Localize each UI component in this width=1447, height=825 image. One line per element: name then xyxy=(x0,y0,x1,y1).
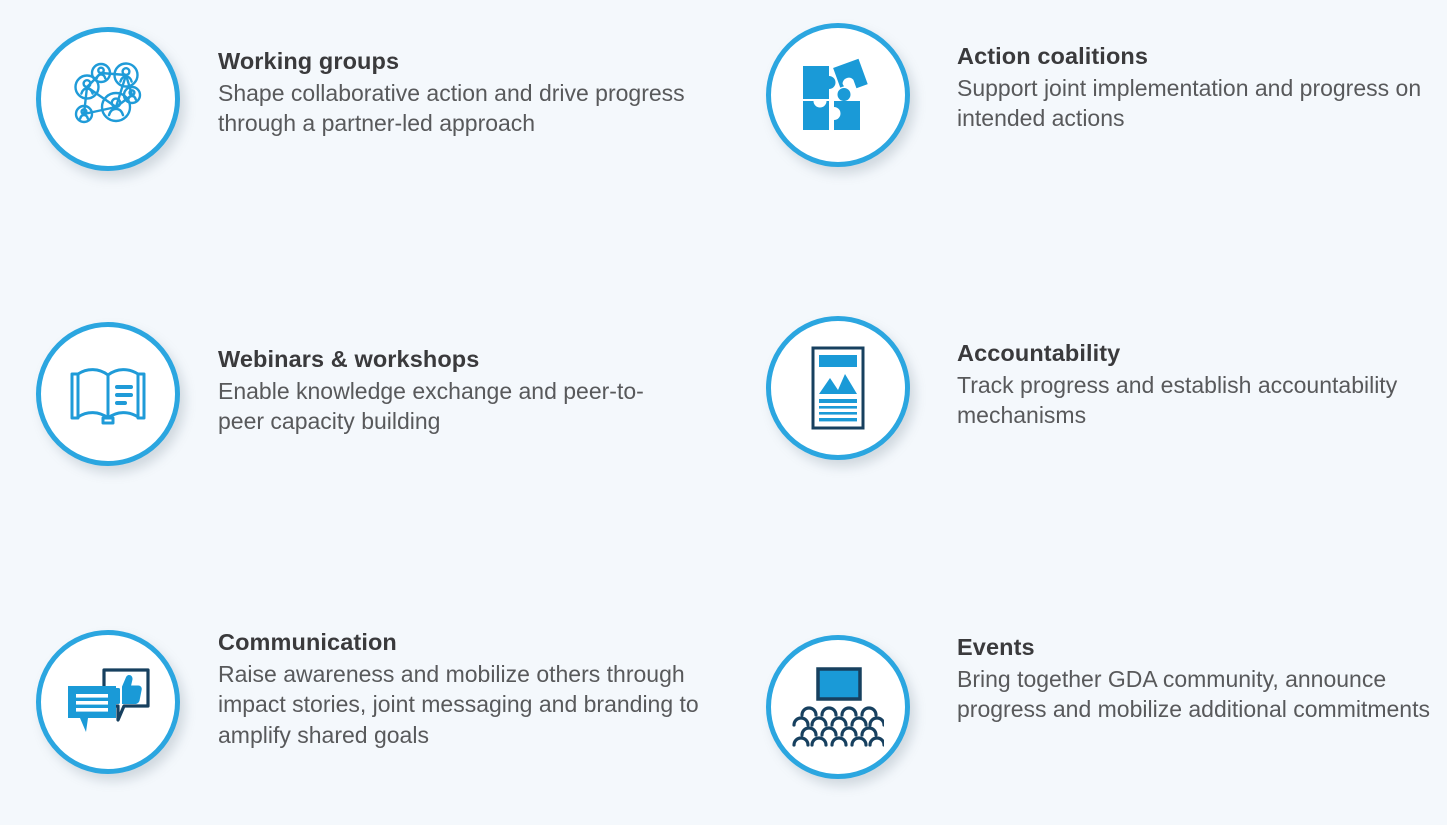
item-description: Raise awareness and mobilize others thro… xyxy=(218,659,718,751)
icon-badge-communication xyxy=(36,630,180,774)
copy-communication: Communication Raise awareness and mobili… xyxy=(218,626,718,750)
copy-events: Events Bring together GDA community, ann… xyxy=(957,631,1437,725)
icon-badge-working-groups xyxy=(36,27,180,171)
item-communication: Communication Raise awareness and mobili… xyxy=(36,630,718,774)
item-webinars-workshops: Webinars & workshops Enable knowledge ex… xyxy=(36,322,688,466)
item-working-groups: Working groups Shape collaborative actio… xyxy=(36,27,718,171)
icon-badge-action-coalitions xyxy=(766,23,910,167)
engagement-mechanisms-board: Working groups Shape collaborative actio… xyxy=(0,0,1447,825)
item-description: Enable knowledge exchange and peer-to-pe… xyxy=(218,376,688,437)
report-document-icon xyxy=(801,344,875,432)
copy-webinars-workshops: Webinars & workshops Enable knowledge ex… xyxy=(218,343,688,437)
item-description: Bring together GDA community, announce p… xyxy=(957,664,1437,725)
item-description: Shape collaborative action and drive pro… xyxy=(218,78,718,139)
item-title: Events xyxy=(957,633,1437,663)
network-people-icon xyxy=(60,51,156,147)
item-events: Events Bring together GDA community, ann… xyxy=(766,635,1437,779)
item-title: Webinars & workshops xyxy=(218,345,688,375)
speech-bubbles-thumbs-up-icon xyxy=(62,662,154,742)
item-description: Support joint implementation and progres… xyxy=(957,73,1447,134)
icon-badge-accountability xyxy=(766,316,910,460)
icon-badge-events xyxy=(766,635,910,779)
item-accountability: Accountability Track progress and establ… xyxy=(766,316,1437,460)
item-title: Communication xyxy=(218,628,718,658)
copy-action-coalitions: Action coalitions Support joint implemen… xyxy=(957,40,1447,134)
puzzle-pieces-icon xyxy=(797,54,879,136)
item-title: Accountability xyxy=(957,339,1437,369)
icon-badge-webinars-workshops xyxy=(36,322,180,466)
item-title: Action coalitions xyxy=(957,42,1447,72)
open-book-icon xyxy=(62,348,154,440)
copy-working-groups: Working groups Shape collaborative actio… xyxy=(218,45,718,139)
item-description: Track progress and establish accountabil… xyxy=(957,370,1437,431)
presentation-audience-icon xyxy=(792,665,884,749)
copy-accountability: Accountability Track progress and establ… xyxy=(957,337,1437,431)
item-title: Working groups xyxy=(218,47,718,77)
item-action-coalitions: Action coalitions Support joint implemen… xyxy=(766,23,1447,167)
